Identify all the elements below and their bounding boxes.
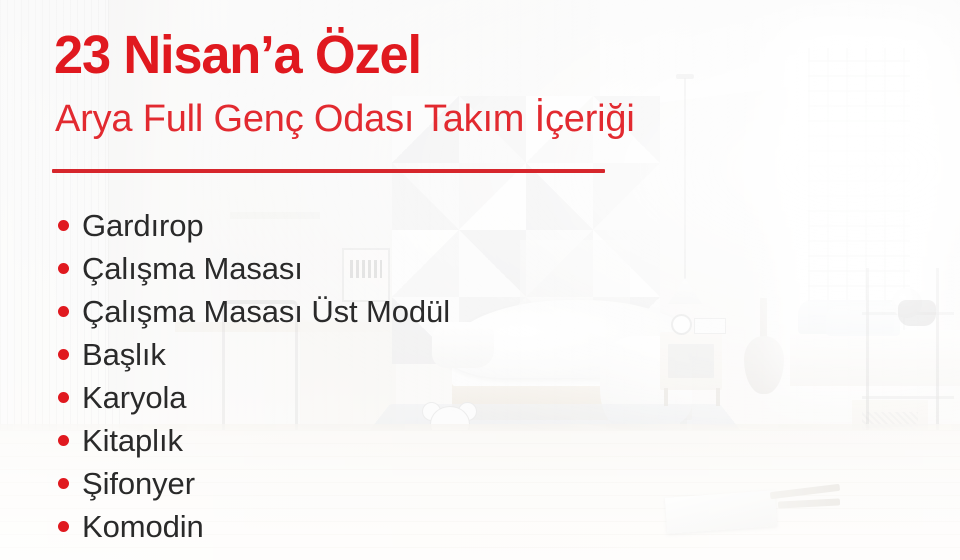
list-item-label: Karyola (82, 382, 186, 413)
page-subtitle: Arya Full Genç Odası Takım İçeriği (55, 100, 635, 138)
page-title: 23 Nisan’a Özel (54, 28, 421, 82)
bullet-icon (58, 349, 69, 360)
list-item-label: Gardırop (82, 210, 204, 241)
bullet-icon (58, 435, 69, 446)
list-item-label: Başlık (82, 339, 166, 370)
list-item-label: Çalışma Masası (82, 253, 303, 284)
bullet-icon (58, 306, 69, 317)
set-contents-list: GardıropÇalışma MasasıÇalışma Masası Üst… (58, 204, 450, 548)
bullet-icon (58, 263, 69, 274)
list-item: Kitaplık (58, 419, 450, 462)
list-item: Şifonyer (58, 462, 450, 505)
list-item-label: Çalışma Masası Üst Modül (82, 296, 450, 327)
list-item: Karyola (58, 376, 450, 419)
bullet-icon (58, 392, 69, 403)
promo-banner: 23 Nisan’a Özel Arya Full Genç Odası Tak… (0, 0, 960, 560)
list-item: Komodin (58, 505, 450, 548)
list-item-label: Kitaplık (82, 425, 183, 456)
title-divider (52, 169, 605, 173)
list-item-label: Şifonyer (82, 468, 195, 499)
list-item: Başlık (58, 333, 450, 376)
bullet-icon (58, 220, 69, 231)
bullet-icon (58, 521, 69, 532)
list-item: Gardırop (58, 204, 450, 247)
banner-content: 23 Nisan’a Özel Arya Full Genç Odası Tak… (0, 0, 960, 560)
bullet-icon (58, 478, 69, 489)
list-item: Çalışma Masası Üst Modül (58, 290, 450, 333)
list-item: Çalışma Masası (58, 247, 450, 290)
list-item-label: Komodin (82, 511, 204, 542)
